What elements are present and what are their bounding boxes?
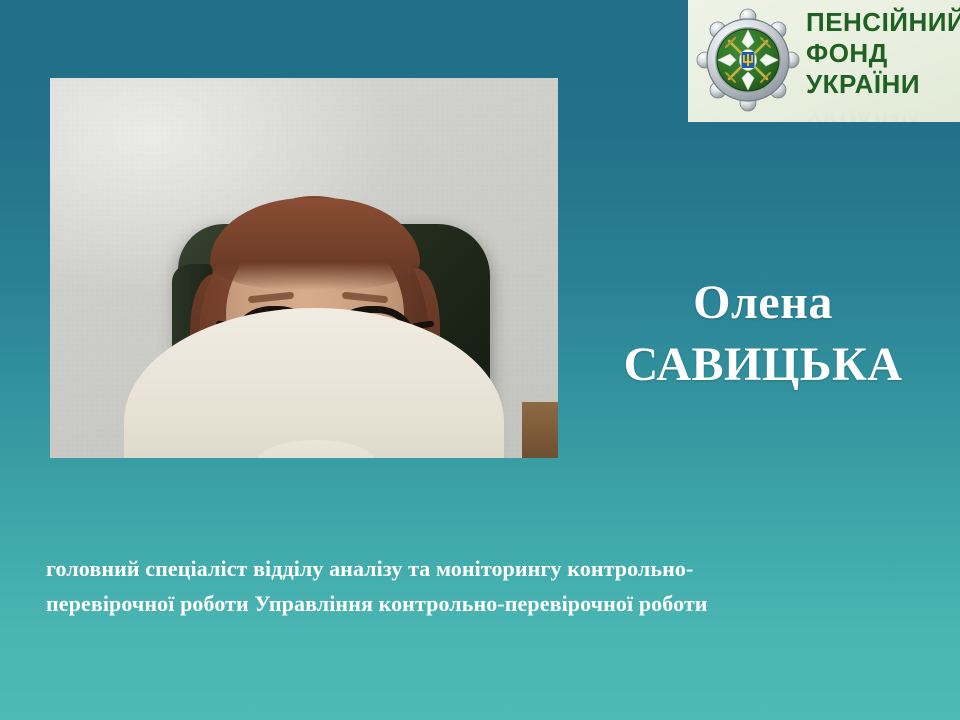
speaker-last-name: САВИЦЬКА [566, 334, 960, 396]
photo-wood-trim [522, 402, 558, 458]
speaker-job-title-line-2: перевірочної роботи Управління контрольн… [46, 586, 896, 621]
organization-logo-box: ПЕНСІЙНИЙ ФОНД УКРАЇНИ ПЕНСІЙНИЙ ФОНД УК… [688, 0, 960, 122]
logo-line-2: ФОНД [806, 38, 956, 69]
speaker-name: Олена САВИЦЬКА [566, 272, 960, 396]
pension-fund-of-ukraine-emblem [696, 8, 800, 112]
logo-text: ПЕНСІЙНИЙ ФОНД УКРАЇНИ [806, 7, 956, 100]
speaker-job-title: головний спеціаліст відділу аналізу та м… [46, 551, 896, 621]
logo-line-3: УКРАЇНИ [806, 69, 956, 100]
logo-text-reflection: ПЕНСІЙНИЙ ФОНД УКРАЇНИ [806, 100, 956, 122]
presentation-slide: ПЕНСІЙНИЙ ФОНД УКРАЇНИ ПЕНСІЙНИЙ ФОНД УК… [0, 0, 960, 720]
speaker-job-title-line-1: головний спеціаліст відділу аналізу та м… [46, 551, 896, 586]
logo-reflection-line-3: УКРАЇНИ [806, 100, 956, 122]
speaker-video-thumbnail[interactable] [50, 78, 558, 458]
logo-line-1: ПЕНСІЙНИЙ [806, 7, 956, 38]
speaker-first-name: Олена [566, 272, 960, 334]
